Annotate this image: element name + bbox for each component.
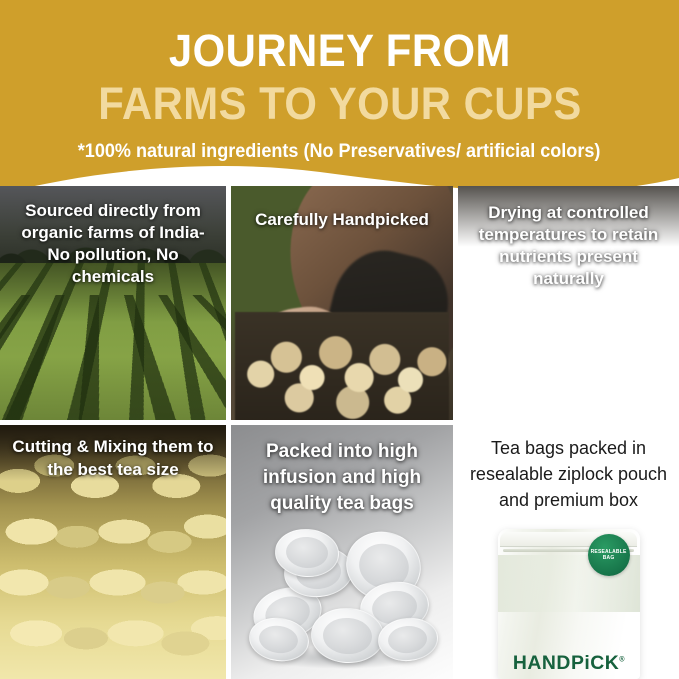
header-subtitle: *100% natural ingredients (No Preservati…	[78, 140, 601, 164]
step-caption-sourcing: Sourced directly from organic farms of I…	[0, 200, 226, 288]
step-caption-drying: Drying at controlled temperatures to ret…	[458, 202, 679, 290]
step-card-drying: Drying at controlled temperatures to ret…	[458, 186, 679, 420]
resealable-bag-badge: RESEALABLE BAG	[588, 534, 630, 576]
step-card-packaging: RESEALABLE BAG HANDPiCK® Tea bags packed…	[458, 425, 679, 679]
step-caption-teabags: Packed into high infusion and high quali…	[231, 439, 453, 517]
process-steps-grid: Sourced directly from organic farms of I…	[0, 186, 679, 679]
step-caption-handpicking: Carefully Handpicked	[231, 208, 453, 232]
step-card-handpicking: Carefully Handpicked	[231, 186, 453, 420]
brand-trademark: ®	[619, 657, 625, 664]
header-title-line1: JOURNEY FROM	[169, 26, 511, 76]
header-banner: JOURNEY FROM FARMS TO YOUR CUPS *100% na…	[0, 0, 679, 200]
step-caption-packaging: Tea bags packed in resealable ziplock po…	[458, 435, 679, 513]
step-card-sourcing: Sourced directly from organic farms of I…	[0, 186, 226, 420]
brand-name: HANDPiCK	[512, 653, 618, 674]
header-title-line2: FARMS TO YOUR CUPS	[98, 78, 582, 130]
step-caption-cutting: Cutting & Mixing them to the best tea si…	[0, 435, 226, 481]
infographic-root: JOURNEY FROM FARMS TO YOUR CUPS *100% na…	[0, 0, 679, 679]
step-card-teabags: Packed into high infusion and high quali…	[231, 425, 453, 679]
step-card-cutting: Cutting & Mixing them to the best tea si…	[0, 425, 226, 679]
brand-logo: HANDPiCK®	[496, 653, 641, 675]
badge-line2: BAG	[603, 555, 615, 561]
product-pouch: RESEALABLE BAG HANDPiCK®	[498, 529, 640, 679]
